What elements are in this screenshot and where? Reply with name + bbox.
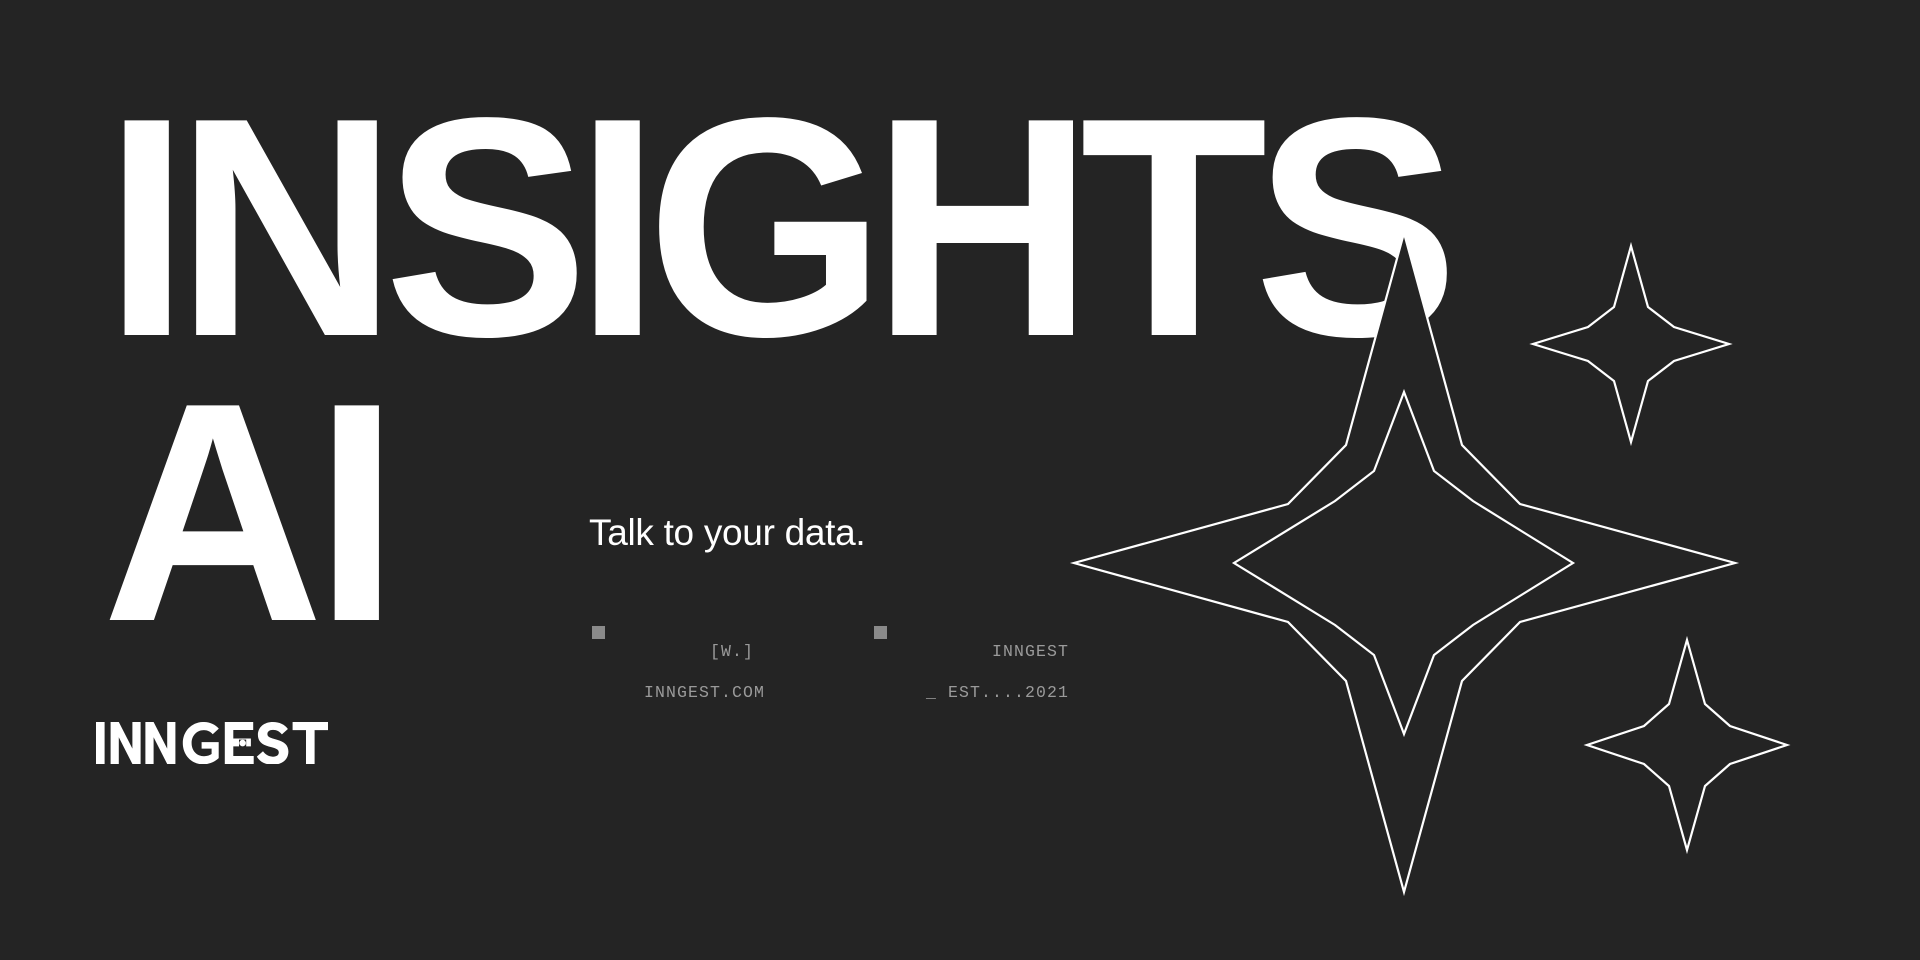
meta-established-text: INNGEST _ EST....2021 [926, 622, 1069, 744]
poster-canvas: INSIGHTS AI Talk to your data. [W.] INNG… [0, 0, 1920, 960]
star-bottom-right-icon [1587, 640, 1787, 850]
headline-line-1: INSIGHTS [104, 86, 1445, 371]
meta-website-value: INNGEST.COM [644, 683, 765, 703]
meta-website-text: [W.] INNGEST.COM [644, 622, 765, 744]
square-bullet-icon [592, 626, 605, 639]
meta-website-label: [W.] [710, 642, 754, 661]
inngest-logo [96, 722, 328, 764]
meta-established-value: _ EST....2021 [926, 683, 1069, 703]
meta-established-label: INNGEST [992, 642, 1069, 661]
square-bullet-icon [874, 626, 887, 639]
tagline: Talk to your data. [589, 512, 865, 554]
meta-block-website: [W.] INNGEST.COM [592, 622, 765, 744]
meta-block-established: INNGEST _ EST....2021 [874, 622, 1069, 744]
page-title: INSIGHTS AI [104, 86, 1465, 657]
star-top-right-icon [1533, 246, 1729, 442]
